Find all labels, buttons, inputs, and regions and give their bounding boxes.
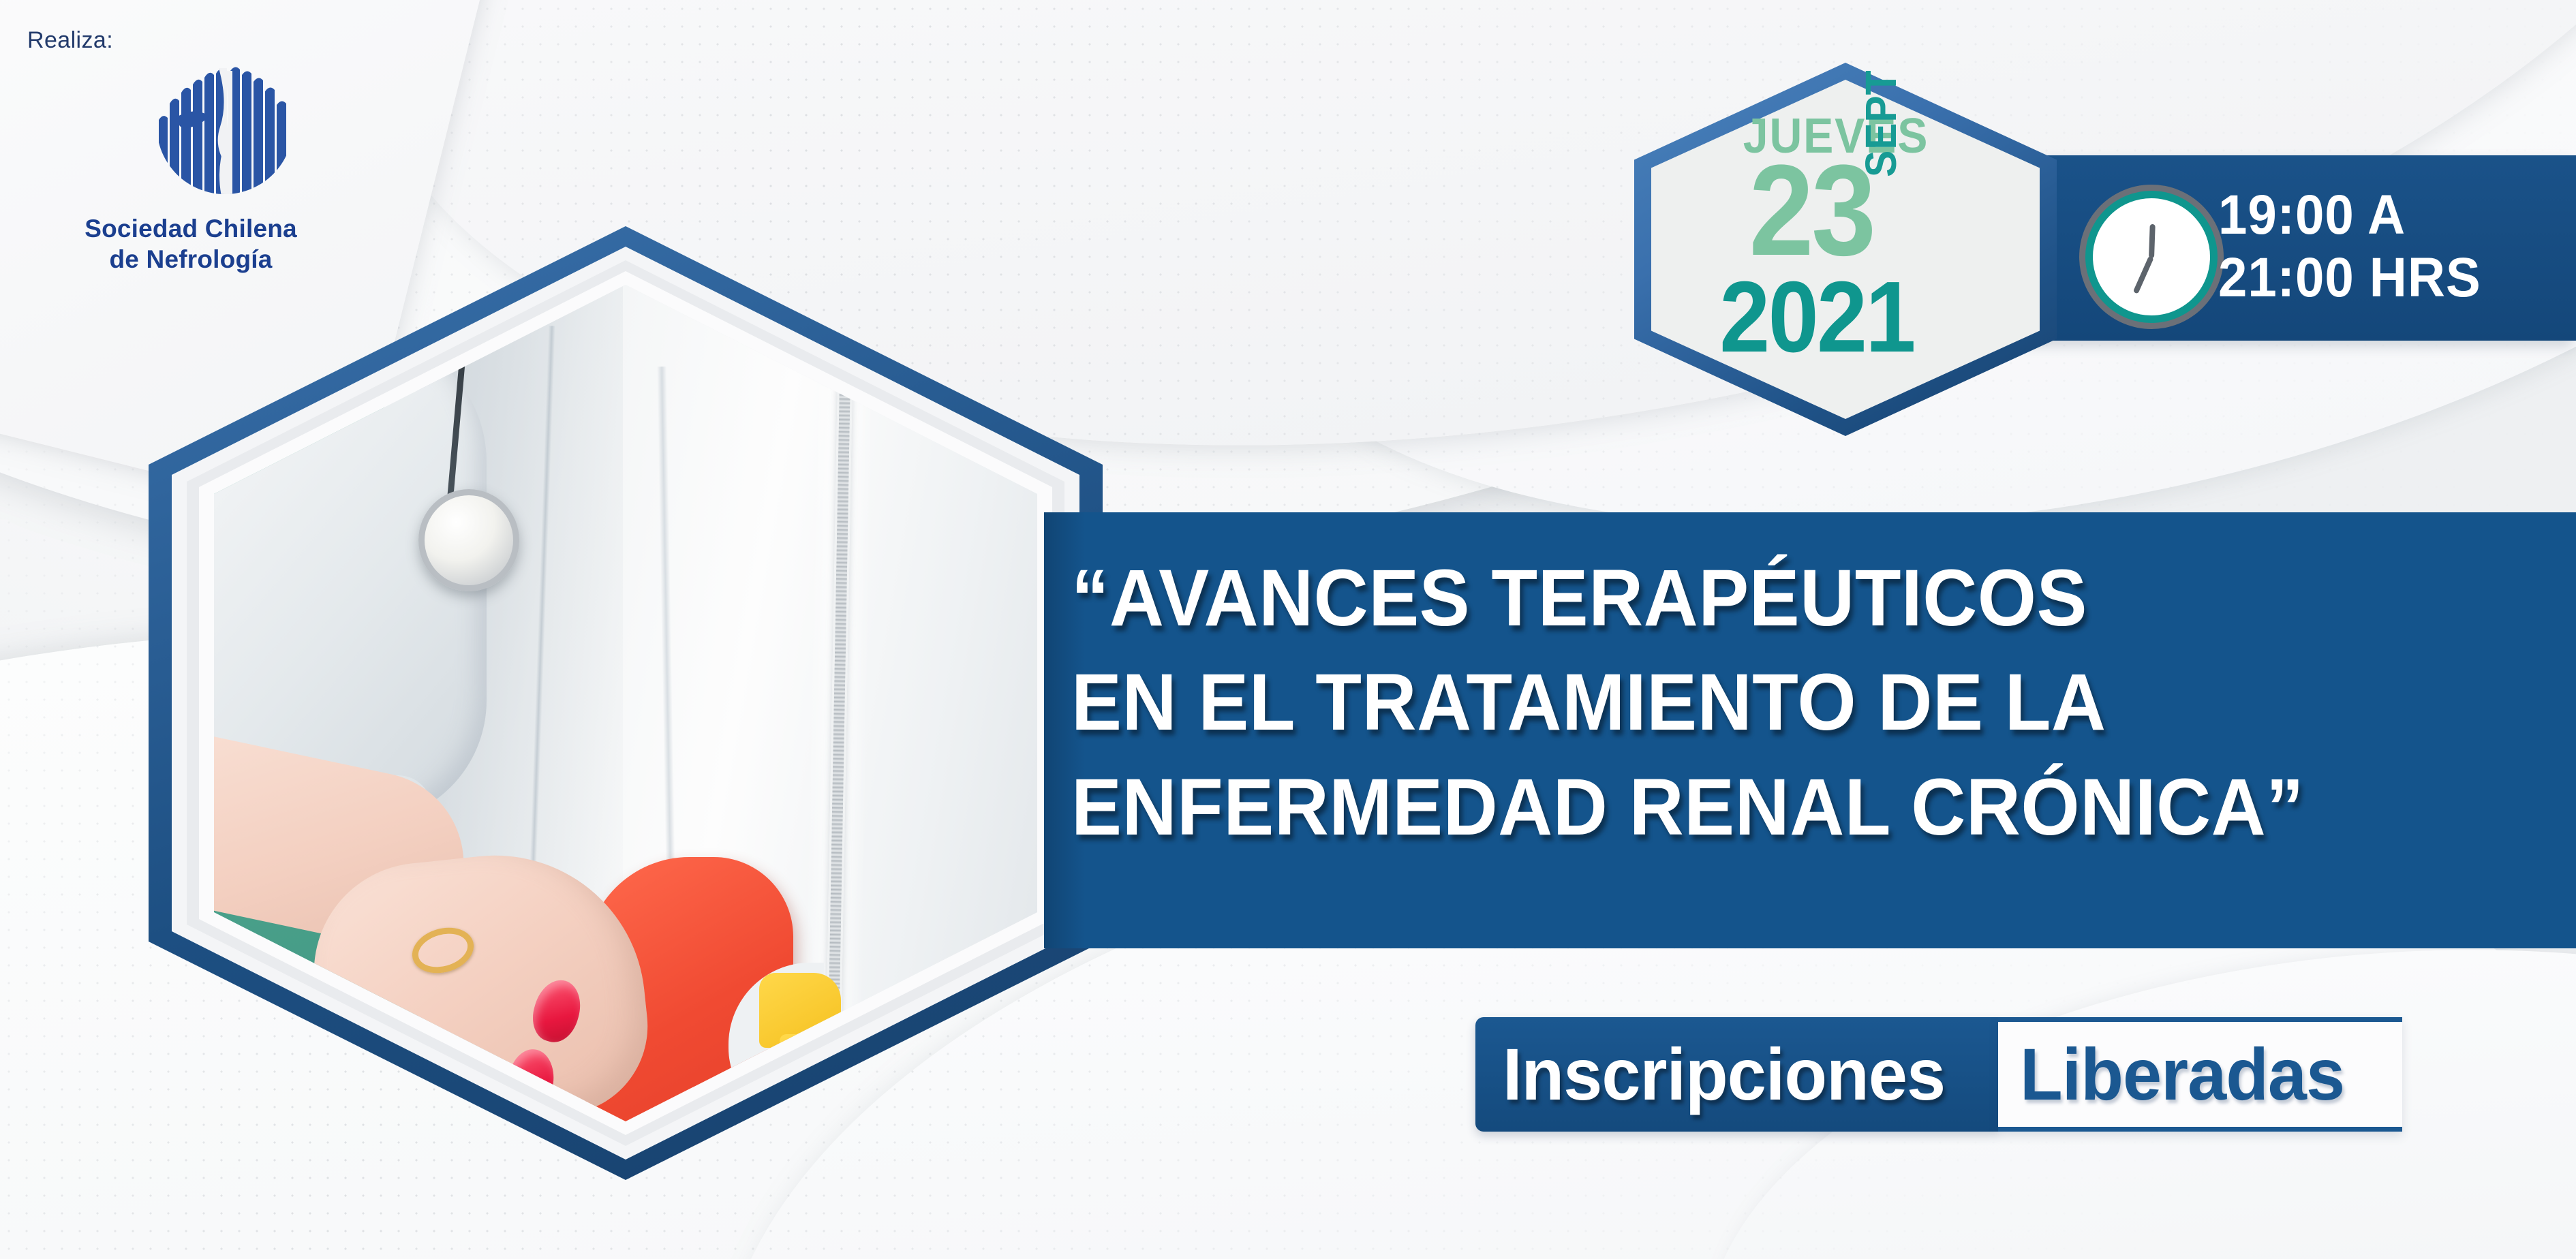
striped-circle-logo-icon bbox=[153, 55, 296, 198]
date-badge-content: JUEVES 23 SEPT 2021 bbox=[1634, 63, 2057, 436]
event-time-line2: 21:00 HRS bbox=[2218, 247, 2481, 309]
event-time-line1: 19:00 A bbox=[2218, 184, 2481, 247]
event-time-text: 19:00 A 21:00 HRS bbox=[2218, 184, 2481, 309]
date-year: 2021 bbox=[1688, 267, 1946, 368]
event-title-line3: ENFERMEDAD RENAL CRÓNICA” bbox=[1071, 756, 2468, 860]
photo-stethoscope-head bbox=[418, 489, 519, 591]
event-title: “AVANCES TERAPÉUTICOS EN EL TRATAMIENTO … bbox=[1071, 546, 2468, 860]
event-title-line1: “AVANCES TERAPÉUTICOS bbox=[1071, 546, 2468, 651]
photo-fingernail bbox=[388, 1097, 436, 1121]
registration-highlight-block: Liberadas bbox=[1998, 1017, 2402, 1132]
clock-hour-hand bbox=[2149, 224, 2156, 258]
realiza-label: Realiza: bbox=[27, 27, 113, 54]
hexagon-photo-frame bbox=[149, 226, 1103, 1180]
date-month: SEPT bbox=[1859, 27, 1900, 177]
event-title-line2: EN EL TRATAMIENTO DE LA bbox=[1071, 651, 2468, 755]
registration-highlight: Liberadas bbox=[2020, 1038, 2344, 1111]
event-banner: Realiza: bbox=[0, 0, 2576, 1259]
clock-minute-hand bbox=[2133, 255, 2154, 294]
registration-banner: Inscripciones Liberadas bbox=[1475, 1017, 2402, 1132]
event-date-badge: JUEVES 23 SEPT 2021 bbox=[1634, 63, 2057, 436]
registration-label-block: Inscripciones bbox=[1475, 1017, 1998, 1132]
registration-label: Inscripciones bbox=[1503, 1038, 1945, 1111]
clock-icon bbox=[2085, 191, 2218, 323]
event-time-block: 19:00 A 21:00 HRS bbox=[2014, 155, 2576, 341]
